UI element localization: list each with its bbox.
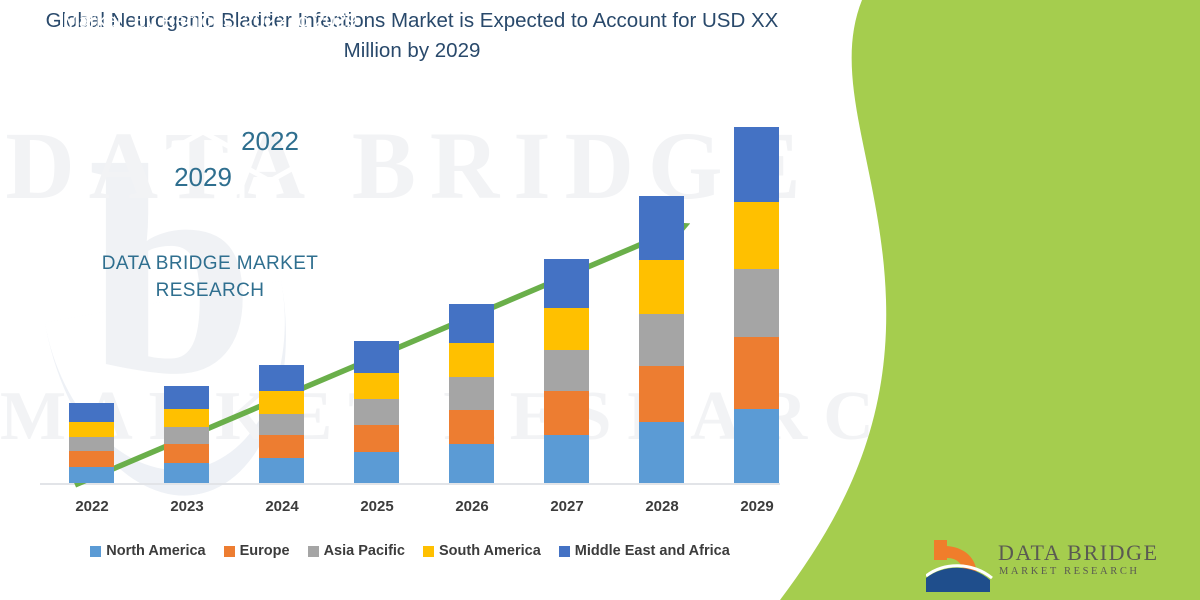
bar-column-2027[interactable] <box>544 259 589 483</box>
hexagon-badges-group: 2022 2029 <box>0 92 420 232</box>
right-green-panel <box>780 0 1200 600</box>
bar-column-2026[interactable] <box>449 304 494 484</box>
panel-brand-line-2: RESEARCH <box>0 277 420 304</box>
bar-segment-europe-2029 <box>734 337 779 408</box>
legend-swatch-icon <box>559 546 570 557</box>
x-axis-labels: 20222023202420252026202720282029 <box>0 498 820 524</box>
legend-swatch-icon <box>224 546 235 557</box>
legend-swatch-icon <box>90 546 101 557</box>
bar-segment-middle-east-and-africa-2028 <box>639 196 684 259</box>
hexagon-2029-label: 2029 <box>174 162 232 192</box>
bar-segment-south-america-2027 <box>544 308 589 351</box>
bar-column-2025[interactable] <box>354 341 399 483</box>
x-axis-label-2028: 2028 <box>617 498 707 515</box>
hexagon-2022-label: 2022 <box>241 126 299 156</box>
bar-segment-europe-2027 <box>544 391 589 435</box>
bar-segment-asia-pacific-2024 <box>259 414 304 435</box>
bar-segment-north-america-2024 <box>259 458 304 484</box>
x-axis-label-2025: 2025 <box>332 498 422 515</box>
bar-segment-europe-2025 <box>354 425 399 453</box>
bar-column-2029[interactable] <box>734 127 779 483</box>
x-axis-label-2027: 2027 <box>522 498 612 515</box>
bar-segment-north-america-2023 <box>164 463 209 483</box>
x-axis-label-2022: 2022 <box>47 498 137 515</box>
bar-segment-asia-pacific-2023 <box>164 427 209 444</box>
bar-segment-asia-pacific-2025 <box>354 399 399 425</box>
bar-segment-south-america-2028 <box>639 260 684 314</box>
bar-segment-europe-2024 <box>259 435 304 457</box>
legend-item-europe[interactable]: Europe <box>224 543 290 559</box>
bar-segment-south-america-2029 <box>734 202 779 269</box>
legend-label: Middle East and Africa <box>575 543 730 559</box>
bar-column-2022[interactable] <box>69 403 114 483</box>
bar-segment-south-america-2024 <box>259 391 304 413</box>
legend-item-north-america[interactable]: North America <box>90 543 205 559</box>
bar-segment-europe-2028 <box>639 366 684 422</box>
bar-segment-north-america-2025 <box>354 452 399 483</box>
legend-item-middle-east-and-africa[interactable]: Middle East and Africa <box>559 543 730 559</box>
company-logo: DATA BRIDGE MARKET RESEARCH <box>926 534 1186 596</box>
bar-segment-north-america-2022 <box>69 467 114 483</box>
bar-segment-asia-pacific-2029 <box>734 269 779 337</box>
bar-segment-europe-2022 <box>69 451 114 466</box>
bar-segment-middle-east-and-africa-2024 <box>259 365 304 392</box>
logo-tagline: MARKET RESEARCH <box>999 566 1140 577</box>
bar-segment-europe-2026 <box>449 410 494 445</box>
bar-segment-south-america-2026 <box>449 343 494 377</box>
bar-segment-asia-pacific-2022 <box>69 437 114 451</box>
bar-segment-south-america-2022 <box>69 422 114 437</box>
legend-item-south-america[interactable]: South America <box>423 543 541 559</box>
x-axis-label-2024: 2024 <box>237 498 327 515</box>
panel-brand-line-1: DATA BRIDGE MARKET <box>0 250 420 277</box>
x-axis-label-2023: 2023 <box>142 498 232 515</box>
legend-item-asia-pacific[interactable]: Asia Pacific <box>308 543 405 559</box>
panel-title: Market, By Regions, 2022 to 2029 <box>0 2 420 34</box>
legend-label: Europe <box>240 543 290 559</box>
bar-column-2028[interactable] <box>639 196 684 483</box>
bar-segment-middle-east-and-africa-2022 <box>69 403 114 421</box>
bar-segment-middle-east-and-africa-2026 <box>449 304 494 344</box>
bar-segment-middle-east-and-africa-2023 <box>164 386 209 408</box>
logo-bridge-icon <box>926 534 996 592</box>
bar-segment-south-america-2023 <box>164 409 209 427</box>
bar-segment-north-america-2027 <box>544 435 589 483</box>
chart-legend: North AmericaEuropeAsia PacificSouth Ame… <box>0 538 820 564</box>
x-axis-label-2026: 2026 <box>427 498 517 515</box>
bar-segment-middle-east-and-africa-2025 <box>354 341 399 373</box>
x-axis-label-2029: 2029 <box>712 498 802 515</box>
bar-segment-south-america-2025 <box>354 373 399 400</box>
legend-label: South America <box>439 543 541 559</box>
legend-swatch-icon <box>423 546 434 557</box>
legend-label: Asia Pacific <box>324 543 405 559</box>
bar-segment-north-america-2028 <box>639 422 684 483</box>
bar-segment-asia-pacific-2028 <box>639 314 684 366</box>
bar-segment-asia-pacific-2026 <box>449 377 494 410</box>
legend-label: North America <box>106 543 205 559</box>
bar-segment-north-america-2029 <box>734 409 779 483</box>
bar-segment-middle-east-and-africa-2027 <box>544 259 589 308</box>
bar-segment-north-america-2026 <box>449 444 494 483</box>
panel-brand-text: DATA BRIDGE MARKET RESEARCH <box>0 250 420 304</box>
legend-swatch-icon <box>308 546 319 557</box>
bar-segment-asia-pacific-2027 <box>544 350 589 391</box>
bar-segment-europe-2023 <box>164 444 209 462</box>
bar-segment-middle-east-and-africa-2029 <box>734 127 779 201</box>
bar-column-2024[interactable] <box>259 365 304 483</box>
bar-column-2023[interactable] <box>164 386 209 483</box>
infographic-canvas: b DATA BRIDGE MARKET RESEARCH Global Neu… <box>0 0 1200 600</box>
logo-name: DATA BRIDGE <box>998 540 1159 566</box>
